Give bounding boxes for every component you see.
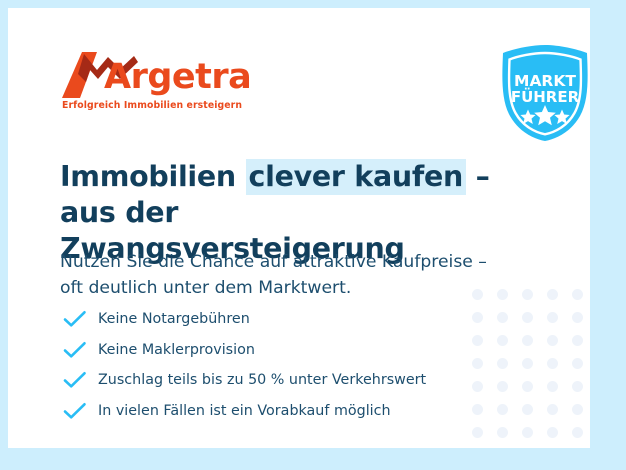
list-item: Keine Notargebühren xyxy=(63,304,533,335)
check-icon xyxy=(63,341,87,359)
decorative-dot xyxy=(572,335,583,346)
logo-tagline: Erfolgreich Immobilien ersteigern xyxy=(62,100,242,111)
decorative-dot xyxy=(572,427,583,438)
list-item: Zuschlag teils bis zu 50 % unter Verkehr… xyxy=(63,365,533,396)
list-item-label: Zuschlag teils bis zu 50 % unter Verkehr… xyxy=(98,372,426,388)
decorative-dot xyxy=(547,381,558,392)
decorative-dot xyxy=(572,312,583,323)
decorative-dot xyxy=(547,312,558,323)
list-item-label: Keine Notargebühren xyxy=(98,311,250,327)
headline-highlight: clever kaufen xyxy=(246,159,466,195)
benefit-list: Keine Notargebühren Keine Maklerprovisio… xyxy=(63,304,533,426)
subheadline-line-2: oft deutlich unter dem Marktwert. xyxy=(60,278,351,298)
decorative-dot xyxy=(522,427,533,438)
list-item-label: In vielen Fällen ist ein Vorabkauf mögli… xyxy=(98,403,391,419)
decorative-dot xyxy=(572,358,583,369)
check-icon xyxy=(63,310,87,328)
argetra-logo[interactable]: Argetra Erfolgreich Immobilien ersteiger… xyxy=(60,52,260,118)
decorative-dot xyxy=(547,427,558,438)
subheadline: Nutzen Sie die Chance auf attraktive Kau… xyxy=(60,249,560,301)
list-item: Keine Maklerprovision xyxy=(63,335,533,366)
decorative-dot xyxy=(547,335,558,346)
decorative-dot xyxy=(572,289,583,300)
list-item-label: Keine Maklerprovision xyxy=(98,342,255,358)
headline-text-after: – xyxy=(466,160,490,193)
subheadline-line-1: Nutzen Sie die Chance auf attraktive Kau… xyxy=(60,252,487,272)
badge-line-2: FÜHRER xyxy=(511,87,580,106)
logo-wordmark: Argetra xyxy=(104,60,251,95)
market-leader-badge: MARKT FÜHRER xyxy=(497,44,590,142)
banner-card: Argetra Erfolgreich Immobilien ersteiger… xyxy=(8,8,590,448)
headline-text-before: Immobilien xyxy=(60,160,246,193)
promo-banner: Argetra Erfolgreich Immobilien ersteiger… xyxy=(0,0,626,470)
list-item: In vielen Fällen ist ein Vorabkauf mögli… xyxy=(63,396,533,427)
headline-line-1: Immobilien clever kaufen – xyxy=(60,159,490,195)
decorative-dot xyxy=(547,404,558,415)
check-icon xyxy=(63,371,87,389)
decorative-dot xyxy=(572,404,583,415)
decorative-dot xyxy=(497,427,508,438)
decorative-dot xyxy=(572,381,583,392)
decorative-dot xyxy=(472,427,483,438)
check-icon xyxy=(63,402,87,420)
decorative-dot xyxy=(547,358,558,369)
